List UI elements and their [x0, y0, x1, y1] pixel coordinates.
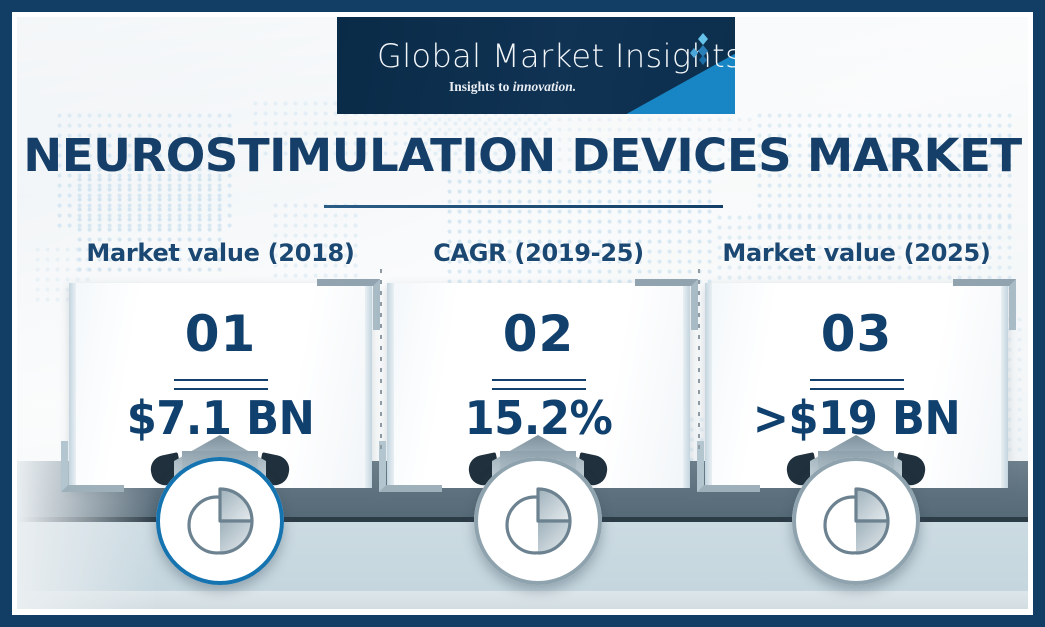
pie-chart-badge-3: [781, 435, 931, 587]
card-separator-dotted-1: [380, 269, 382, 451]
stat-card-label: Market value (2018): [69, 239, 372, 267]
stat-card-number: 03: [705, 305, 1008, 363]
infographic-frame: Global Market Insights Insights to innov…: [12, 12, 1033, 615]
infographic-root: Global Market Insights Insights to innov…: [0, 0, 1045, 627]
pie-chart-badge-2: [463, 435, 613, 587]
stat-card-label: Market value (2025): [705, 239, 1008, 267]
card-separator-dotted-2: [698, 269, 700, 451]
pie-chart-icon: [498, 481, 578, 561]
stat-card-label: CAGR (2019-25): [387, 239, 690, 267]
pie-chart-badge-1: [145, 435, 295, 587]
pie-chart-icon: [180, 481, 260, 561]
stat-card-number: 02: [387, 305, 690, 363]
stat-card-double-rule: [492, 379, 586, 390]
badge-circle: [474, 457, 602, 585]
badge-circle: [156, 457, 284, 585]
card-corner-bracket-bottom-left: [61, 441, 124, 492]
pie-chart-icon: [816, 481, 896, 561]
stat-card-number: 01: [69, 305, 372, 363]
badge-circle: [792, 457, 920, 585]
stat-card-double-rule: [174, 379, 268, 390]
infographic-canvas: Global Market Insights Insights to innov…: [17, 17, 1028, 609]
stat-card-double-rule: [810, 379, 904, 390]
card-corner-bracket-bottom-left: [379, 441, 442, 492]
card-corner-bracket-bottom-left: [697, 441, 760, 492]
